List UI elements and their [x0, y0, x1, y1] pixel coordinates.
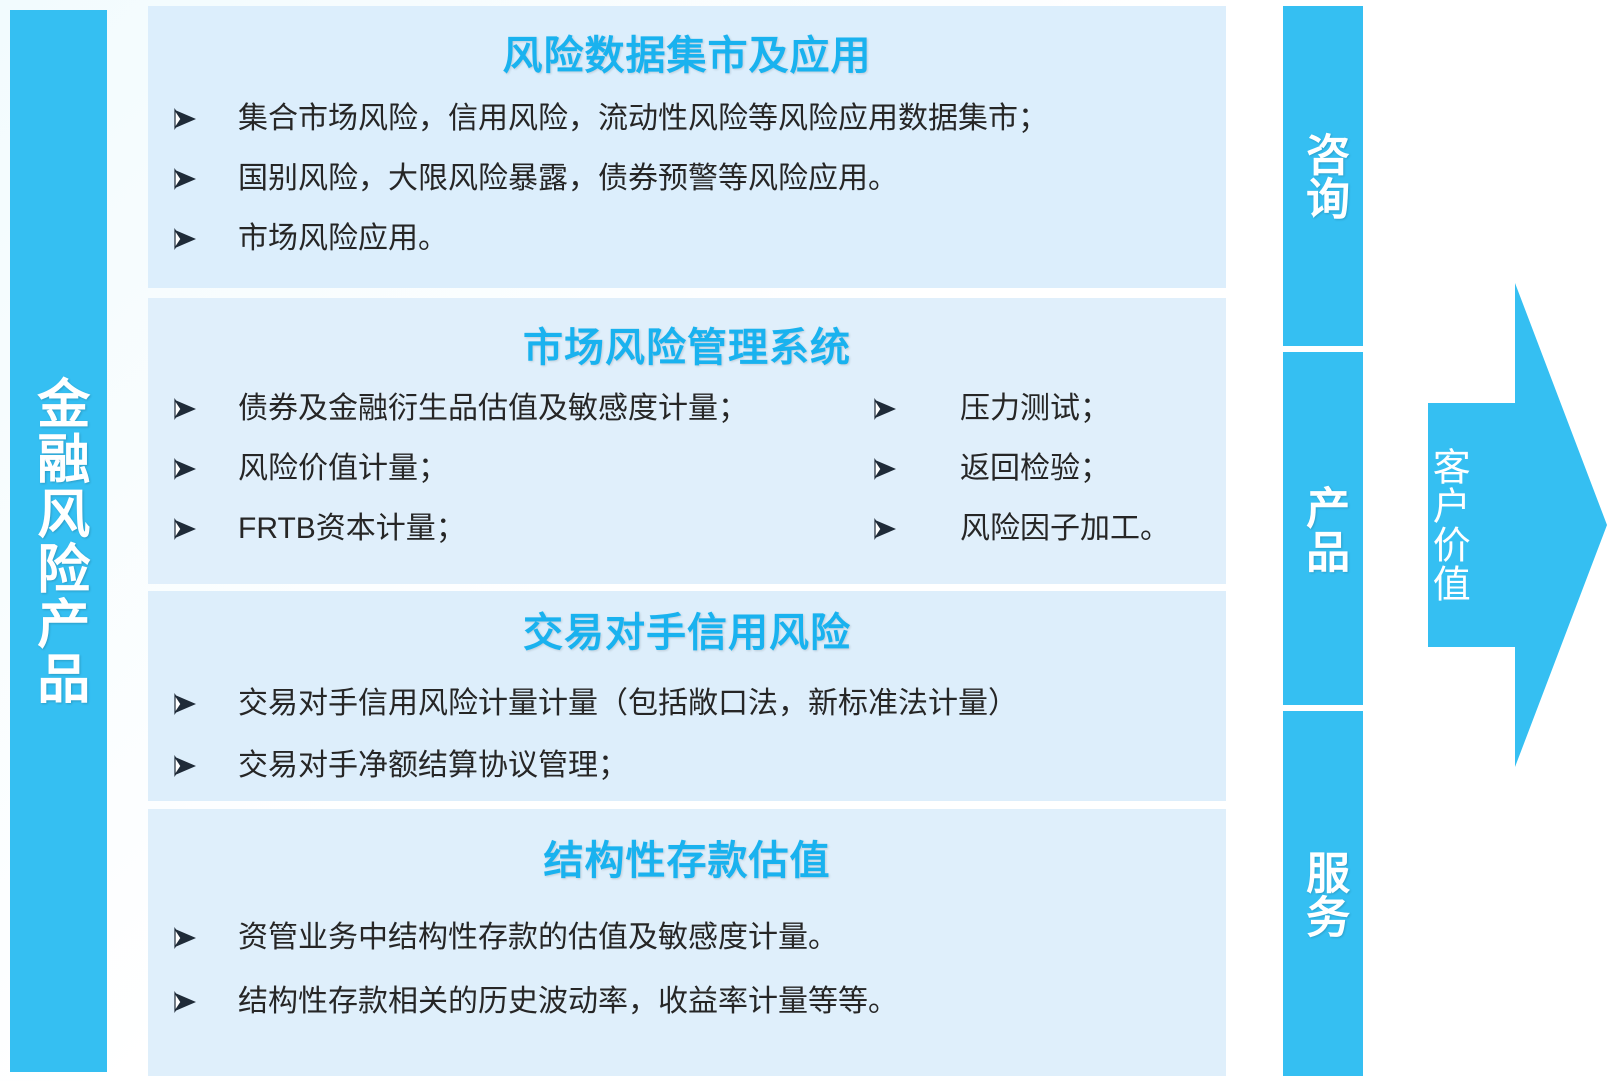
list-item-text: 交易对手净额结算协议管理； — [238, 751, 1226, 781]
panel-title: 结构性存款估值 — [148, 809, 1226, 881]
stage-label: 产品 — [1300, 485, 1346, 573]
panel-title: 风险数据集市及应用 — [148, 6, 1226, 76]
bullet-column-right: 压力测试； 返回检验； — [848, 394, 1226, 574]
bullet-list: 交易对手信用风险计量计量（包括敞口法，新标准法计量） 交易对手净额结算协议管理； — [148, 653, 1226, 781]
list-item: 债券及金融衍生品估值及敏感度计量； — [148, 394, 848, 424]
list-item: 国别风险，大限风险暴露，债券预警等风险应用。 — [148, 164, 1226, 194]
list-item-text: 市场风险应用。 — [238, 224, 1226, 254]
arrow-bullet-icon — [162, 104, 238, 134]
arrow-bullet-icon — [862, 454, 960, 484]
right-arrow-icon — [1382, 275, 1607, 775]
arrow-bullet-icon — [162, 751, 238, 781]
arrow-bullet-icon — [162, 454, 238, 484]
stage-block-consulting[interactable]: 咨询 — [1283, 6, 1363, 346]
stage-block-product[interactable]: 产品 — [1283, 352, 1363, 705]
stage-label: 咨询 — [1300, 132, 1346, 220]
list-item-text: 国别风险，大限风险暴露，债券预警等风险应用。 — [238, 164, 1226, 194]
arrow-bullet-icon — [862, 394, 960, 424]
panel-counterparty-credit-risk: 交易对手信用风险 交易对手信用风险计量计量（包括敞口法，新标准法计量） — [148, 591, 1226, 801]
stage-label: 服务 — [1300, 850, 1346, 938]
arrow-bullet-icon — [162, 923, 238, 953]
right-stage-column: 咨询 产品 服务 — [1283, 6, 1363, 1076]
panel-structured-deposit-valuation: 结构性存款估值 资管业务中结构性存款的估值及敏感度计量。 — [148, 809, 1226, 1076]
list-item: 交易对手净额结算协议管理； — [148, 751, 1226, 781]
list-item: 交易对手信用风险计量计量（包括敞口法，新标准法计量） — [148, 689, 1226, 719]
bullet-list: 资管业务中结构性存款的估值及敏感度计量。 结构性存款相关的历史波动率，收益率计量… — [148, 881, 1226, 1017]
arrow-bullet-icon — [162, 394, 238, 424]
arrow-bullet-icon — [162, 987, 238, 1017]
panel-risk-data-mart: 风险数据集市及应用 集合市场风险，信用风险，流动性风险等风险应用数据集市； — [148, 6, 1226, 288]
arrow-bullet-icon — [162, 224, 238, 254]
arrow-bullet-icon — [162, 514, 238, 544]
panel-title: 市场风险管理系统 — [148, 298, 1226, 368]
list-item: 结构性存款相关的历史波动率，收益率计量等等。 — [148, 987, 1226, 1017]
arrow-bullet-icon — [162, 689, 238, 719]
arrow-bullet-icon — [862, 514, 960, 544]
list-item-text: 压力测试； — [960, 394, 1226, 424]
list-item-text: 结构性存款相关的历史波动率，收益率计量等等。 — [238, 987, 1226, 1017]
panel-stack: 风险数据集市及应用 集合市场风险，信用风险，流动性风险等风险应用数据集市； — [148, 6, 1226, 1076]
list-item: 风险因子加工。 — [848, 514, 1226, 544]
list-item: 资管业务中结构性存款的估值及敏感度计量。 — [148, 923, 1226, 953]
left-category-bar: 金融风险产品 — [10, 10, 107, 1072]
bullet-column-left: 债券及金融衍生品估值及敏感度计量； 风险价值计量； — [148, 394, 848, 574]
list-item: FRTB资本计量； — [148, 514, 848, 544]
list-item: 返回检验； — [848, 454, 1226, 484]
list-item-text: 风险因子加工。 — [960, 514, 1226, 544]
left-category-label: 金融风险产品 — [28, 376, 88, 706]
list-item: 压力测试； — [848, 394, 1226, 424]
customer-value-arrow: 客户价值 — [1382, 275, 1607, 775]
list-item: 市场风险应用。 — [148, 224, 1226, 254]
list-item-text: 交易对手信用风险计量计量（包括敞口法，新标准法计量） — [238, 689, 1226, 719]
list-item-text: FRTB资本计量； — [238, 514, 848, 544]
list-item: 风险价值计量； — [148, 454, 848, 484]
stage-block-service[interactable]: 服务 — [1283, 711, 1363, 1076]
bullet-grid: 债券及金融衍生品估值及敏感度计量； 风险价值计量； — [148, 368, 1226, 574]
list-item-text: 返回检验； — [960, 454, 1226, 484]
list-item-text: 债券及金融衍生品估值及敏感度计量； — [238, 394, 848, 424]
list-item-text: 集合市场风险，信用风险，流动性风险等风险应用数据集市； — [238, 104, 1226, 134]
slide-canvas: 金融风险产品 风险数据集市及应用 集合市场风险，信用风险，流动性风险等风险应用数… — [0, 0, 1607, 1081]
bullet-list: 集合市场风险，信用风险，流动性风险等风险应用数据集市； 国别风险，大限风险暴露，… — [148, 76, 1226, 254]
panel-market-risk-system: 市场风险管理系统 债券及金融衍生品估值及敏感度计量； — [148, 298, 1226, 584]
list-item-text: 资管业务中结构性存款的估值及敏感度计量。 — [238, 923, 1226, 953]
arrow-bullet-icon — [162, 164, 238, 194]
panel-title: 交易对手信用风险 — [148, 591, 1226, 653]
list-item-text: 风险价值计量； — [238, 454, 848, 484]
list-item: 集合市场风险，信用风险，流动性风险等风险应用数据集市； — [148, 104, 1226, 134]
